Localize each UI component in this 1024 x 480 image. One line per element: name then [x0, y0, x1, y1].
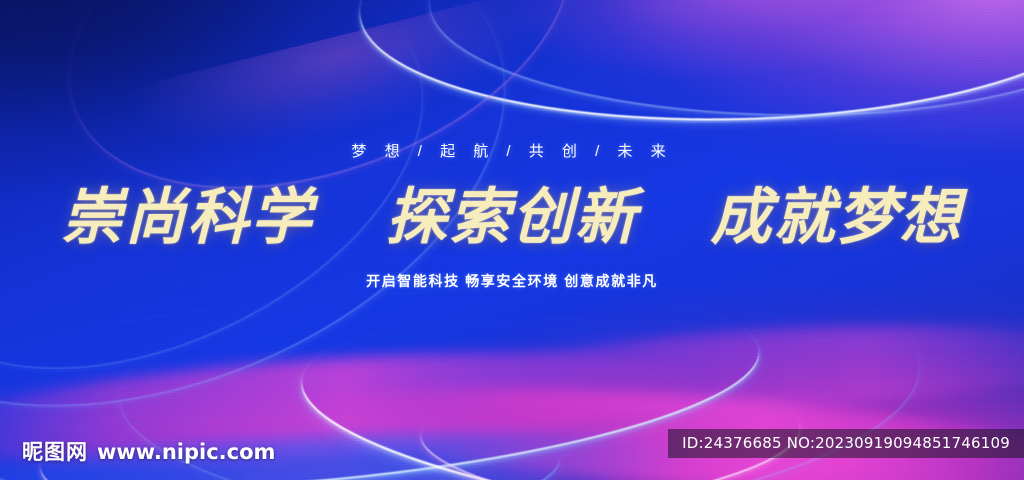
poster-tagline-text: 开启智能科技 畅享安全环境 创意成就非凡 — [0, 271, 1024, 291]
background-topright-purple-glow — [0, 0, 1024, 480]
background-topleft-purple-wash — [0, 0, 1024, 480]
poster-headline: 崇尚科学 探索创新 成就梦想 — [0, 186, 1024, 250]
background-bottomright-magenta-bloom — [0, 0, 1024, 480]
headline-segment-3: 成就梦想 — [711, 182, 963, 253]
background-base-gradient — [0, 0, 1024, 480]
background-topleft-navy-glow — [0, 0, 1024, 480]
light-streak-topleft-1 — [0, 0, 573, 480]
magenta-ribbon-right — [298, 368, 1024, 480]
magenta-ribbon-upper — [418, 312, 1024, 429]
light-streak-top-primary — [357, 0, 1024, 128]
poster-eyebrow-text: 梦 想 / 起 航 / 共 创 / 未 来 — [0, 140, 1024, 161]
background-scanline-texture — [0, 0, 1024, 480]
headline-segment-2: 探索创新 — [386, 182, 638, 253]
poster-content: 梦 想 / 起 航 / 共 创 / 未 来 崇尚科学 探索创新 成就梦想 开启智… — [0, 0, 1024, 480]
image-id-badge: ID:24376685 NO:20230919094851746109 — [668, 429, 1024, 458]
headline-segment-1: 崇尚科学 — [61, 182, 313, 253]
light-streak-top-secondary — [428, 0, 1024, 120]
poster-canvas: 梦 想 / 起 航 / 共 创 / 未 来 崇尚科学 探索创新 成就梦想 开启智… — [0, 0, 1024, 480]
background-bottomleft-blue-pool — [0, 0, 1024, 480]
background-topcenter-magenta-smear — [0, 0, 1024, 480]
watermark-brand-cn: 昵图网 — [22, 436, 88, 466]
watermark-url: www.nipic.com — [97, 440, 275, 464]
light-streak-topleft-purple — [24, 0, 615, 250]
light-streak-topleft-2 — [0, 0, 484, 446]
light-streak-lower-pink-2 — [416, 370, 1024, 480]
background-bottomleft-magenta-bloom — [0, 0, 1024, 480]
nipic-watermark: 昵图网 www.nipic.com — [22, 436, 275, 466]
